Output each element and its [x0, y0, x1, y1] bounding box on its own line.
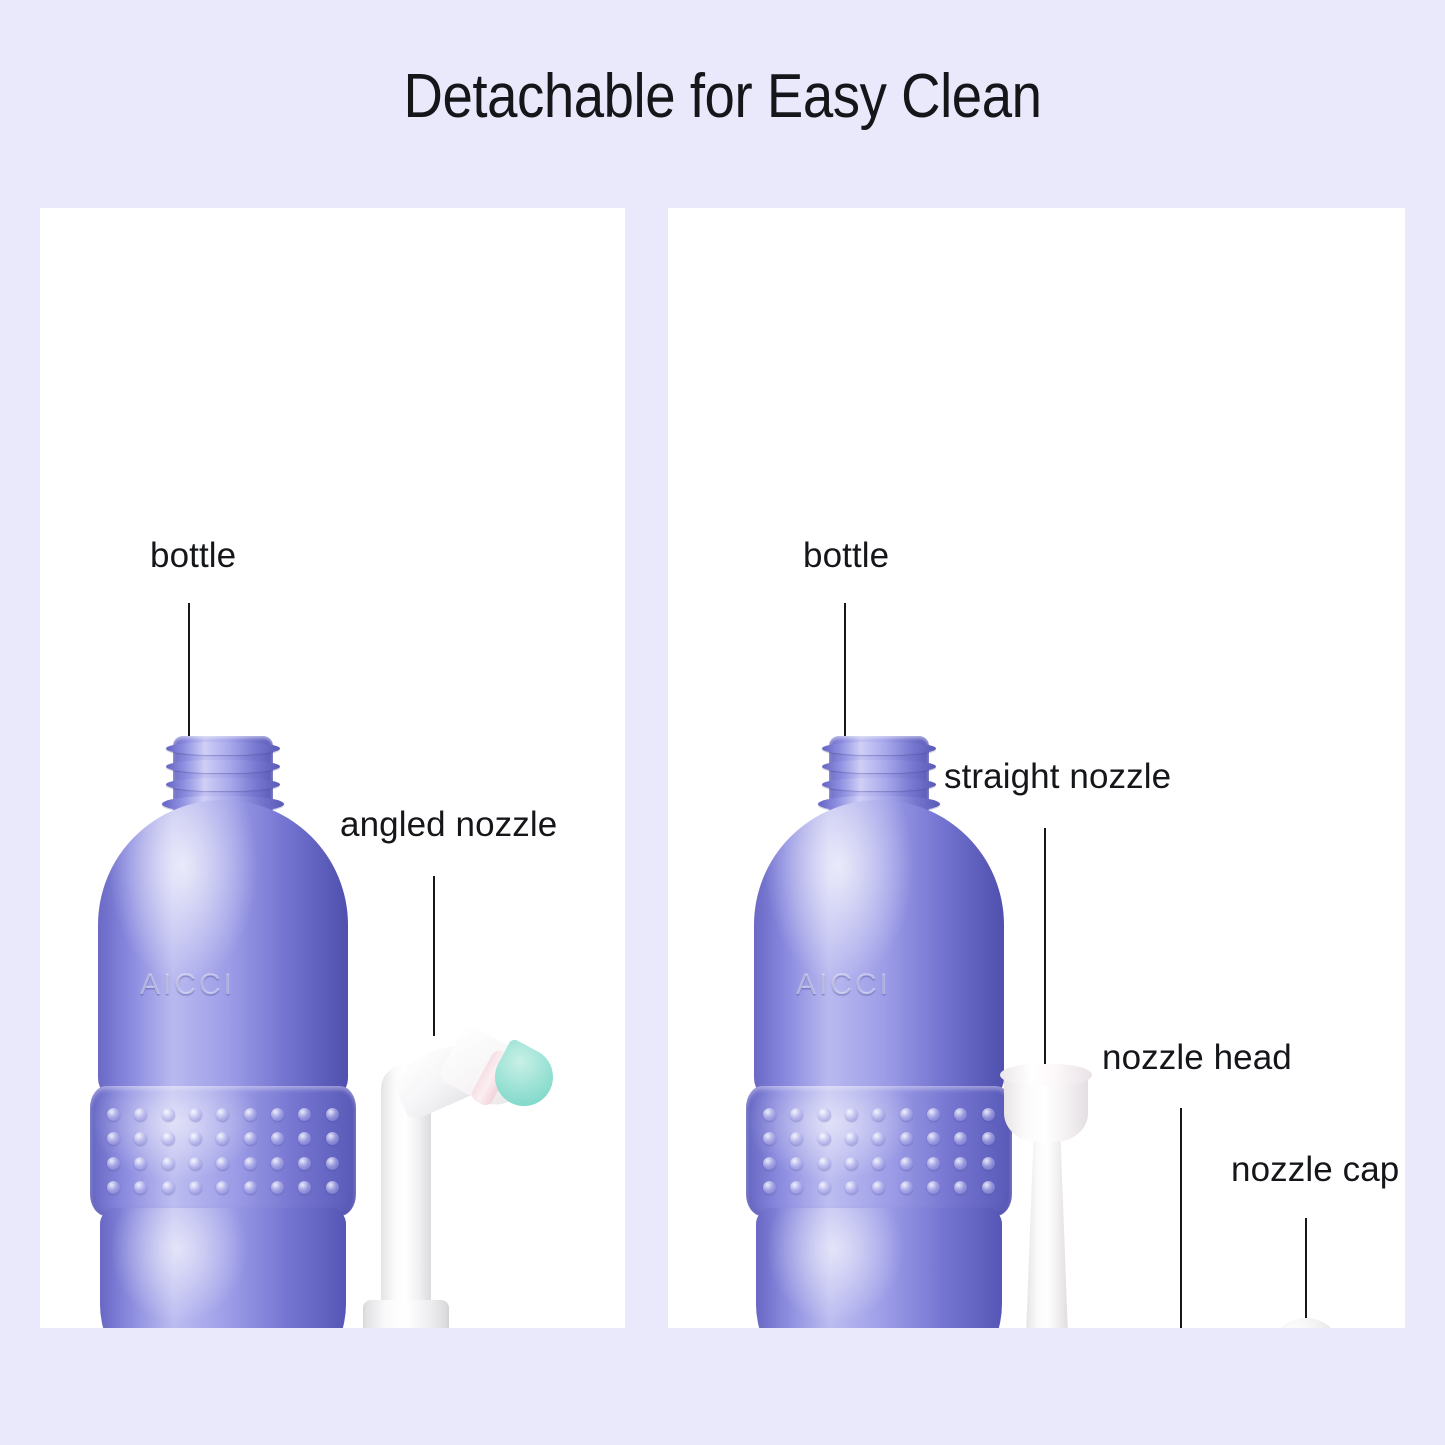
leader-line-nozzle-cap	[1305, 1218, 1307, 1326]
straight-nozzle-rim	[1000, 1064, 1092, 1086]
bottle-lower-body	[756, 1208, 1002, 1328]
grip-dot-grid	[100, 1102, 346, 1200]
angled-nozzle-part	[355, 1028, 555, 1328]
panel-straight-nozzle-configuration: bottle straight nozzle nozzle head nozzl…	[668, 208, 1405, 1328]
leader-line-nozzle-head	[1180, 1108, 1182, 1328]
nozzle-cap-part	[1270, 1318, 1342, 1328]
label-bottle-left: bottle	[150, 536, 236, 576]
label-bottle-right: bottle	[803, 536, 889, 576]
bottle-lower-body	[100, 1208, 346, 1328]
angled-nozzle-base-cap	[363, 1300, 449, 1328]
straight-nozzle-part	[986, 1056, 1106, 1328]
bottle-grip-band	[746, 1086, 1012, 1216]
bottle-brand-emboss-right: AICCI	[796, 968, 891, 1002]
leader-line-bottle-left	[188, 603, 190, 748]
straight-nozzle-column	[1026, 1136, 1068, 1328]
label-angled-nozzle: angled nozzle	[340, 805, 557, 845]
leader-line-bottle-right	[844, 603, 846, 748]
bottle-left: AICCI	[98, 736, 348, 1328]
grip-dot-grid	[756, 1102, 1002, 1200]
bottle-brand-emboss-left: AICCI	[140, 968, 235, 1002]
bottle-right: AICCI	[754, 736, 1004, 1328]
leader-line-angled-nozzle	[433, 876, 435, 1036]
bottle-grip-band	[90, 1086, 356, 1216]
label-nozzle-head: nozzle head	[1102, 1038, 1292, 1078]
leader-line-straight-nozzle	[1044, 828, 1046, 1068]
page-title: Detachable for Easy Clean	[87, 64, 1359, 129]
panel-angled-nozzle-configuration: bottle angled nozzle AICCI	[40, 208, 625, 1328]
label-nozzle-cap: nozzle cap	[1231, 1150, 1399, 1190]
bottle-shoulder: AICCI	[98, 800, 348, 1100]
bottle-shoulder: AICCI	[754, 800, 1004, 1100]
